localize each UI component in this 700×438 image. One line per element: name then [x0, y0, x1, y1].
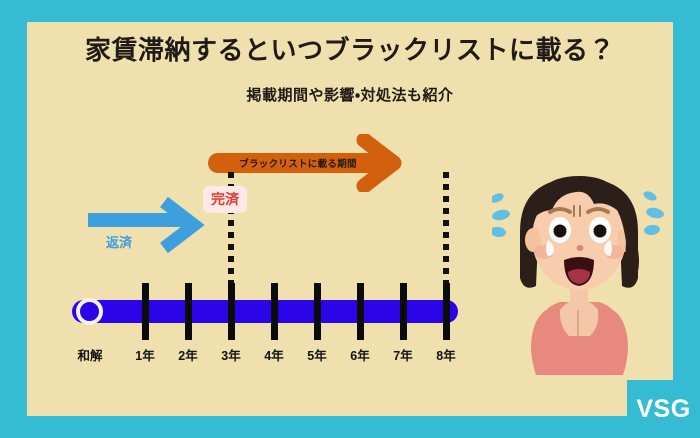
page-title: 家賃滞納するといつブラックリストに載る？	[0, 30, 700, 67]
shocked-woman-illustration	[492, 160, 667, 375]
timeline-label-settlement: 和解	[62, 345, 118, 364]
completion-badge: 完済	[203, 186, 247, 213]
timeline-tick-1	[142, 283, 149, 340]
timeline-tick-6	[357, 283, 364, 340]
timeline-tick-8	[443, 283, 450, 340]
timeline-tick-3	[228, 283, 235, 340]
blacklist-period-arrow: ブラックリストに載る期間	[208, 144, 422, 184]
sweat-drops-left	[492, 191, 511, 238]
timeline-tick-7	[400, 283, 407, 340]
timeline-tick-2	[185, 283, 192, 340]
timeline-label-8y: 8年	[418, 345, 474, 364]
blacklist-period-label: ブラックリストに載る期間	[208, 153, 388, 173]
timeline-start-marker	[76, 298, 103, 325]
infographic-canvas: 家賃滞納するといつブラックリストに載る？ 掲載期間や影響・対処法も紹介 ブラック…	[0, 0, 700, 438]
timeline-tick-5	[314, 283, 321, 340]
repayment-arrow-head	[150, 194, 210, 256]
logo-notch	[601, 418, 627, 438]
repayment-label: 返済	[106, 232, 132, 251]
blacklist-end-guide-line	[443, 172, 449, 290]
sweat-drops-right	[642, 189, 665, 236]
vsg-logo-text: VSG	[636, 395, 690, 424]
vsg-logo: VSG	[627, 380, 700, 438]
page-subtitle: 掲載期間や影響・対処法も紹介	[0, 84, 700, 105]
timeline-tick-4	[271, 283, 278, 340]
nose	[577, 245, 584, 251]
repayment-arrow: 返済	[88, 196, 210, 254]
